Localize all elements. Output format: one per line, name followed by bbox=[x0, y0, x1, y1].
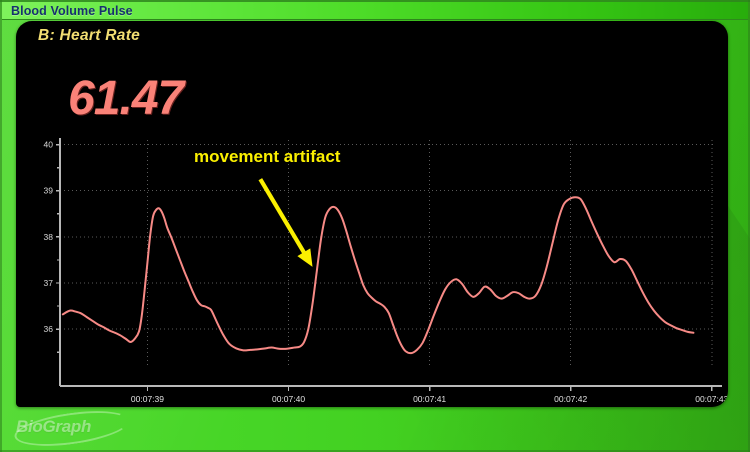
annotation-arrow-shaft bbox=[260, 179, 306, 255]
chart-gridlines bbox=[60, 140, 716, 366]
svg-text:00:07:43: 00:07:43 bbox=[695, 394, 728, 404]
waveform-series bbox=[63, 197, 694, 353]
svg-text:00:07:41: 00:07:41 bbox=[413, 394, 446, 404]
svg-text:36: 36 bbox=[44, 324, 54, 334]
svg-text:37: 37 bbox=[44, 278, 54, 288]
svg-text:00:07:42: 00:07:42 bbox=[554, 394, 587, 404]
biograph-bvp-window: Blood Volume Pulse B: Heart Rate 61.47 3… bbox=[0, 0, 750, 452]
window-edge-left bbox=[0, 0, 2, 452]
svg-text:00:07:39: 00:07:39 bbox=[131, 394, 164, 404]
y-axis-labels: 3637383940 bbox=[44, 140, 54, 334]
svg-text:39: 39 bbox=[44, 186, 54, 196]
window-titlebar[interactable]: Blood Volume Pulse bbox=[2, 2, 748, 20]
heart-rate-line-chart[interactable]: 3637383940 00:07:3900:07:4000:07:4100:07… bbox=[16, 21, 728, 407]
x-axis-labels: 00:07:3900:07:4000:07:4100:07:4200:07:43 bbox=[131, 394, 728, 404]
svg-text:38: 38 bbox=[44, 232, 54, 242]
window-title: Blood Volume Pulse bbox=[2, 4, 133, 18]
chart-panel: B: Heart Rate 61.47 3637383940 00:07:390… bbox=[16, 21, 728, 407]
plot-area[interactable]: 3637383940 00:07:3900:07:4000:07:4100:07… bbox=[16, 21, 728, 407]
chart-axes bbox=[56, 138, 722, 391]
svg-text:40: 40 bbox=[44, 140, 54, 150]
svg-text:00:07:40: 00:07:40 bbox=[272, 394, 305, 404]
annotation-label: movement artifact bbox=[194, 147, 341, 166]
